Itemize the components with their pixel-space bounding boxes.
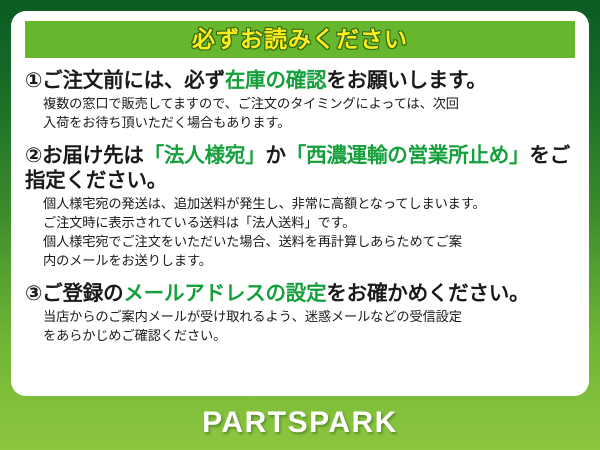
notice-item-2-marker: ② — [25, 144, 42, 167]
notice-item-3-heading-highlight: メールアドレスの設定 — [123, 282, 326, 305]
notice-item-1-marker: ① — [25, 69, 42, 92]
notice-item-1-heading-post: をお願いします。 — [326, 69, 486, 92]
brand-logo-text: PARTSPARK — [202, 408, 398, 438]
notice-item-3-body-line: をあらかじめご確認ください。 — [43, 326, 575, 345]
notice-item-3-heading-post: をお確かめください。 — [326, 282, 529, 305]
page-title: 必ずお読みください — [192, 28, 408, 51]
notice-item-2-heading-highlight-2: 「西濃運輸の営業所止め」 — [286, 144, 530, 167]
brand-footer: PARTSPARK — [0, 396, 600, 450]
notice-item-1-body: 複数の窓口で販売してますので、ご注文のタイミングによっては、次回 入荷をお待ち頂… — [43, 94, 575, 133]
notice-items-list: ①ご注文前には、必ず在庫の確認をお願いします。 複数の窓口で販売してますので、ご… — [25, 68, 575, 345]
notice-item-1-heading-highlight: 在庫の確認 — [225, 69, 327, 92]
notice-item-3-heading: ③ご登録のメールアドレスの設定をお確かめください。 — [25, 281, 575, 306]
notice-item-1-heading: ①ご注文前には、必ず在庫の確認をお願いします。 — [25, 68, 575, 93]
notice-item-2: ②お届け先は「法人様宛」か「西濃運輸の営業所止め」をご指定ください。 個人様宅宛… — [25, 143, 575, 271]
notice-panel: 必ずお読みください ①ご注文前には、必ず在庫の確認をお願いします。 複数の窓口で… — [0, 0, 600, 450]
notice-item-3-body-line: 当店からのご案内メールが受け取れるよう、迷惑メールなどの受信設定 — [43, 307, 575, 326]
notice-item-2-body-line: 個人様宅宛の発送は、追加送料が発生し、非常に高額となってしまいます。 — [43, 194, 575, 213]
notice-item-2-body-line: ご注文時に表示されている送料は「法人送料」です。 — [43, 213, 575, 232]
notice-item-1-heading-pre: ご注文前には、必ず — [42, 69, 225, 92]
notice-item-2-heading-pre: お届け先は — [42, 144, 144, 167]
notice-item-2-heading-highlight: 「法人様宛」 — [144, 144, 266, 167]
notice-item-2-body-line: 内のメールをお送りします。 — [43, 251, 575, 270]
notice-card: 必ずお読みください ①ご注文前には、必ず在庫の確認をお願いします。 複数の窓口で… — [11, 11, 589, 396]
notice-item-3-body: 当店からのご案内メールが受け取れるよう、迷惑メールなどの受信設定 をあらかじめご… — [43, 307, 575, 346]
notice-item-2-body-line: 個人様宅宛でご注文をいただいた場合、送料を再計算しあらためてご案 — [43, 232, 575, 251]
notice-item-3: ③ご登録のメールアドレスの設定をお確かめください。 当店からのご案内メールが受け… — [25, 281, 575, 346]
notice-item-1-body-line: 複数の窓口で販売してますので、ご注文のタイミングによっては、次回 — [43, 94, 575, 113]
notice-item-3-heading-pre: ご登録の — [42, 282, 123, 305]
notice-item-3-marker: ③ — [25, 282, 42, 305]
header-bar: 必ずお読みください — [25, 21, 575, 58]
notice-item-2-body: 個人様宅宛の発送は、追加送料が発生し、非常に高額となってしまいます。 ご注文時に… — [43, 194, 575, 271]
notice-item-2-heading-mid: か — [265, 144, 285, 167]
notice-item-2-heading: ②お届け先は「法人様宛」か「西濃運輸の営業所止め」をご指定ください。 — [25, 143, 575, 193]
notice-item-1-body-line: 入荷をお待ち頂いただく場合もあります。 — [43, 113, 575, 132]
notice-item-1: ①ご注文前には、必ず在庫の確認をお願いします。 複数の窓口で販売してますので、ご… — [25, 68, 575, 133]
